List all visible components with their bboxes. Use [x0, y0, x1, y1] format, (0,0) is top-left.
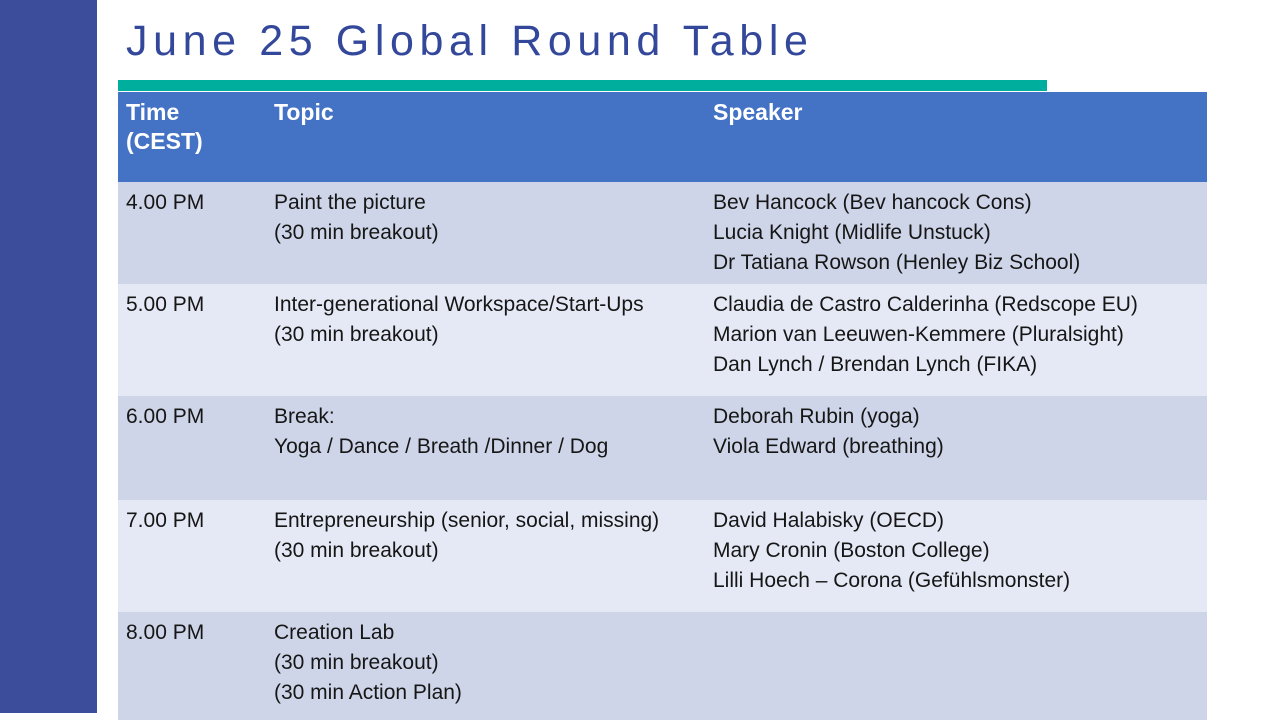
cell-time: 7.00 PM: [118, 500, 266, 612]
table-row[interactable]: 4.00 PM Paint the picture (30 min breako…: [118, 182, 1207, 284]
cell-topic: Inter-generational Workspace/Start-Ups (…: [266, 284, 705, 396]
cell-speaker: [705, 612, 1207, 720]
cell-topic-line: (30 min breakout): [274, 320, 697, 350]
table-header-row: Time (CEST) Topic Speaker: [118, 92, 1207, 182]
table-row[interactable]: 7.00 PM Entrepreneurship (senior, social…: [118, 500, 1207, 612]
table-row[interactable]: 5.00 PM Inter-generational Workspace/Sta…: [118, 284, 1207, 396]
cell-topic: Break: Yoga / Dance / Breath /Dinner / D…: [266, 396, 705, 500]
cell-topic-line: (30 min breakout): [274, 648, 697, 678]
column-header-speaker[interactable]: Speaker: [705, 92, 1207, 182]
cell-topic-line: (30 min breakout): [274, 536, 697, 566]
schedule-table: Time (CEST) Topic Speaker 4.00 PM Paint …: [118, 92, 1207, 720]
cell-speaker-line: Bev Hancock (Bev hancock Cons): [713, 188, 1199, 218]
cell-topic-line: Paint the picture: [274, 188, 697, 218]
cell-speaker-line: Lilli Hoech – Corona (Gefühlsmonster): [713, 566, 1199, 596]
table-row[interactable]: 6.00 PM Break: Yoga / Dance / Breath /Di…: [118, 396, 1207, 500]
cell-speaker-line: Viola Edward (breathing): [713, 432, 1199, 462]
cell-speaker-line: Dan Lynch / Brendan Lynch (FIKA): [713, 350, 1199, 380]
teal-accent-bar: [118, 80, 1047, 91]
cell-speaker-line: David Halabisky (OECD): [713, 506, 1199, 536]
cell-speaker: Bev Hancock (Bev hancock Cons) Lucia Kni…: [705, 182, 1207, 284]
cell-topic-line: Inter-generational Workspace/Start-Ups: [274, 290, 697, 320]
table-row[interactable]: 8.00 PM Creation Lab (30 min breakout) (…: [118, 612, 1207, 720]
cell-topic-line: Creation Lab: [274, 618, 697, 648]
cell-speaker-line: Lucia Knight (Midlife Unstuck): [713, 218, 1199, 248]
cell-speaker-line: Marion van Leeuwen-Kemmere (Pluralsight): [713, 320, 1199, 350]
cell-speaker-line: Mary Cronin (Boston College): [713, 536, 1199, 566]
cell-speaker-line: Deborah Rubin (yoga): [713, 402, 1199, 432]
column-header-topic[interactable]: Topic: [266, 92, 705, 182]
cell-topic-line: Break:: [274, 402, 697, 432]
column-header-time[interactable]: Time (CEST): [118, 92, 266, 182]
cell-topic: Creation Lab (30 min breakout) (30 min A…: [266, 612, 705, 720]
cell-time: 4.00 PM: [118, 182, 266, 284]
cell-time: 6.00 PM: [118, 396, 266, 500]
table-header: Time (CEST) Topic Speaker: [118, 92, 1207, 182]
cell-topic-line: (30 min Action Plan): [274, 678, 697, 708]
cell-speaker: Claudia de Castro Calderinha (Redscope E…: [705, 284, 1207, 396]
cell-speaker: David Halabisky (OECD) Mary Cronin (Bost…: [705, 500, 1207, 612]
cell-topic: Paint the picture (30 min breakout): [266, 182, 705, 284]
cell-speaker-line: Claudia de Castro Calderinha (Redscope E…: [713, 290, 1199, 320]
cell-topic: Entrepreneurship (senior, social, missin…: [266, 500, 705, 612]
cell-speaker-line: Dr Tatiana Rowson (Henley Biz School): [713, 248, 1199, 278]
cell-topic-line: Entrepreneurship (senior, social, missin…: [274, 506, 697, 536]
cell-topic-line: (30 min breakout): [274, 218, 697, 248]
column-header-time-line1: Time: [126, 98, 258, 127]
slide-canvas: June 25 Global Round Table Time (CEST) T…: [0, 0, 1280, 720]
column-header-time-line2: (CEST): [126, 127, 258, 156]
cell-time: 5.00 PM: [118, 284, 266, 396]
left-accent-band: [0, 0, 97, 713]
table-body: 4.00 PM Paint the picture (30 min breako…: [118, 182, 1207, 720]
cell-topic-line: Yoga / Dance / Breath /Dinner / Dog: [274, 432, 697, 462]
cell-speaker: Deborah Rubin (yoga) Viola Edward (breat…: [705, 396, 1207, 500]
page-title: June 25 Global Round Table: [126, 12, 1206, 74]
cell-time: 8.00 PM: [118, 612, 266, 720]
